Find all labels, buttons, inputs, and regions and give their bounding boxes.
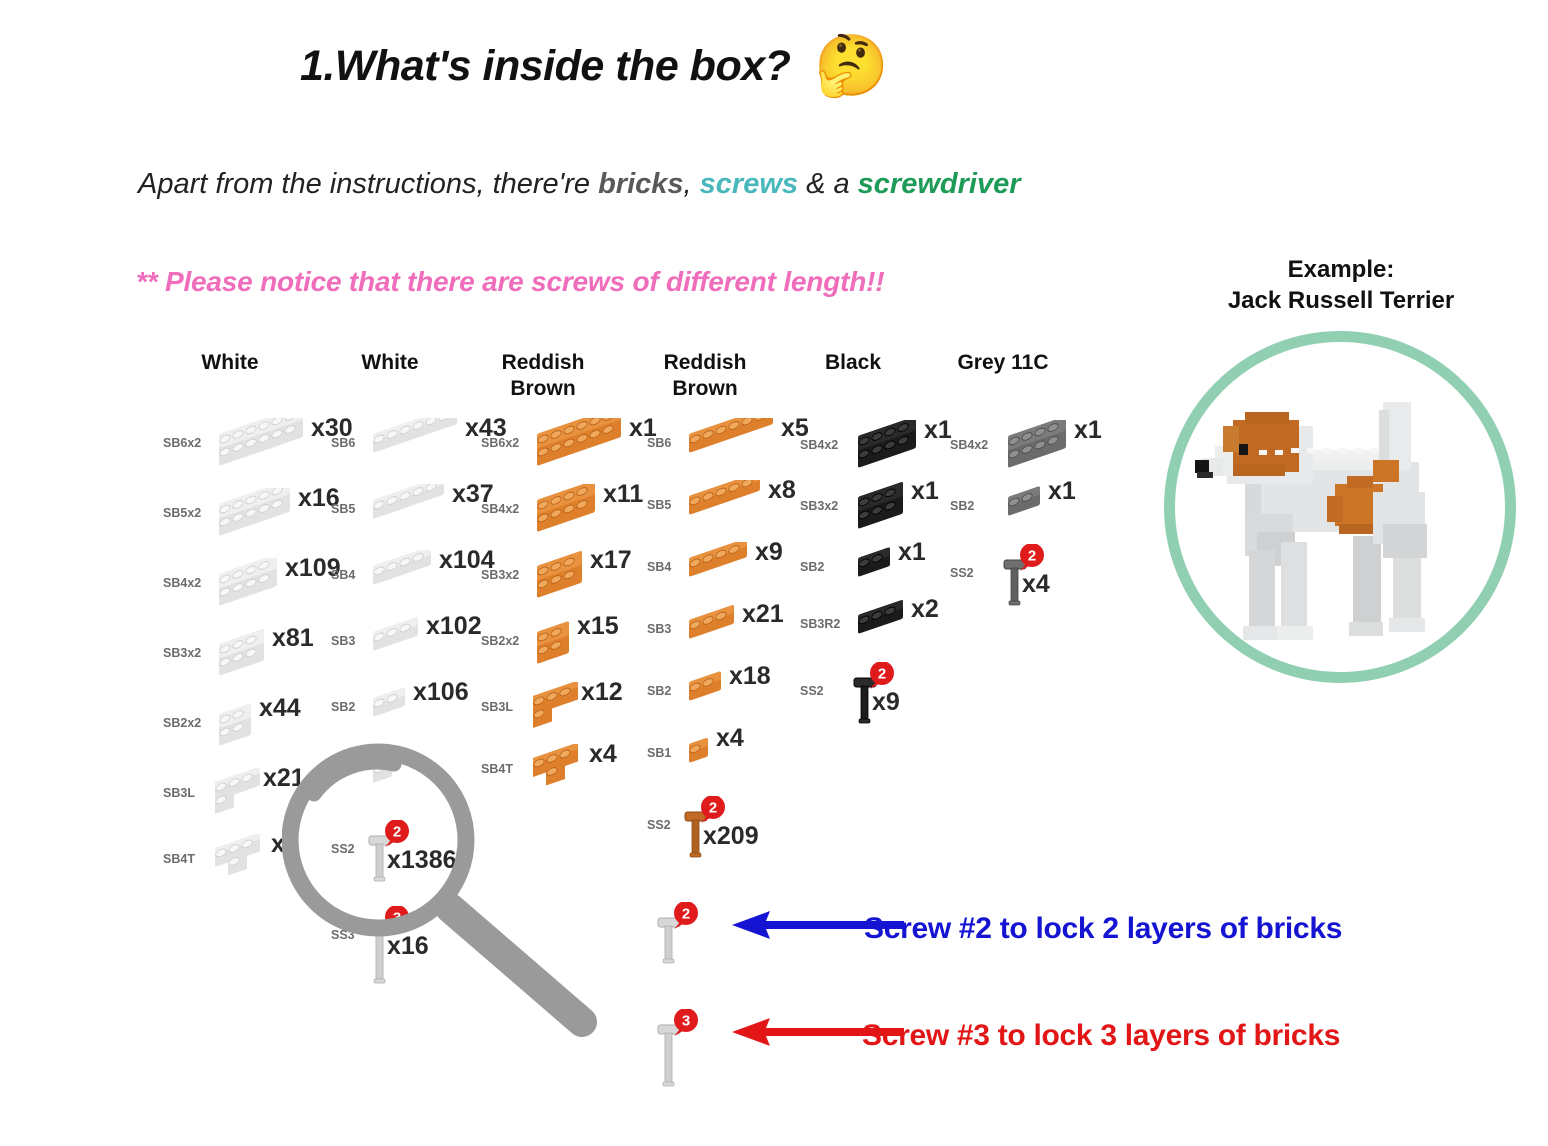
brick-icon bbox=[525, 616, 583, 679]
brick-icon bbox=[846, 599, 917, 649]
screw-length-notice: ** Please notice that there are screws o… bbox=[136, 266, 884, 298]
subtitle-prefix: Apart from the instructions, there're bbox=[138, 168, 598, 200]
screw-quantity: x209 bbox=[703, 822, 759, 851]
column-header-4: ReddishBrown bbox=[625, 350, 785, 403]
subtitle-comma: , bbox=[684, 168, 700, 200]
column-header-line1: Reddish bbox=[625, 350, 785, 376]
example-label-line2: Jack Russell Terrier bbox=[1176, 285, 1506, 316]
brick-icon bbox=[996, 420, 1080, 483]
legend-screw-icon: 2 bbox=[650, 902, 708, 977]
svg-text:2: 2 bbox=[682, 906, 690, 923]
column-header-line1: White bbox=[310, 350, 470, 376]
part-code: SB4T bbox=[163, 852, 195, 866]
part-code: SB4 bbox=[647, 560, 671, 574]
part-code: SB6 bbox=[331, 436, 355, 450]
subtitle-screws: screws bbox=[700, 168, 798, 200]
part-quantity: x1 bbox=[898, 538, 926, 567]
part-quantity: x1 bbox=[1074, 416, 1102, 445]
brick-icon bbox=[207, 488, 304, 551]
jack-russell-terrier-brick-model bbox=[1187, 364, 1493, 664]
part-code: SB4x2 bbox=[163, 576, 201, 590]
part-code: SB4T bbox=[481, 762, 513, 776]
part-quantity: x21 bbox=[263, 764, 305, 793]
column-header-1: White bbox=[150, 350, 310, 376]
part-quantity: x17 bbox=[590, 546, 632, 575]
part-quantity: x4 bbox=[589, 740, 617, 769]
part-code: SB2 bbox=[647, 684, 671, 698]
brick-icon bbox=[361, 484, 458, 534]
part-quantity: x12 bbox=[581, 678, 623, 707]
part-code: SB4 bbox=[331, 568, 355, 582]
brick-icon bbox=[207, 698, 265, 761]
column-header-2: White bbox=[310, 350, 470, 376]
svg-text:3: 3 bbox=[393, 910, 401, 927]
brick-icon bbox=[677, 666, 735, 716]
brick-icon bbox=[361, 418, 471, 468]
subtitle-bricks: bricks bbox=[598, 168, 683, 200]
legend-screw-icon: 3 bbox=[650, 1009, 708, 1100]
brick-icon bbox=[846, 481, 917, 544]
part-quantity: x44 bbox=[259, 694, 301, 723]
part-code: SB2 bbox=[331, 700, 355, 714]
screw-quantity: x4 bbox=[1022, 570, 1050, 599]
part-quantity: x1 bbox=[924, 416, 952, 445]
part-quantity: x21 bbox=[742, 600, 784, 629]
page-title: 1.What's inside the box? bbox=[300, 42, 790, 91]
brick-icon bbox=[361, 550, 445, 600]
brick-icon bbox=[207, 834, 277, 897]
subtitle-amp: & a bbox=[798, 168, 858, 200]
part-code: SB3x2 bbox=[481, 568, 519, 582]
part-code: SB3R2 bbox=[800, 617, 840, 631]
part-code: SB5x2 bbox=[163, 506, 201, 520]
part-code: SB4x2 bbox=[800, 438, 838, 452]
brick-icon bbox=[525, 418, 635, 481]
legend-label: Screw #2 to lock 2 layers of bricks bbox=[864, 912, 1342, 946]
brick-icon bbox=[361, 616, 432, 666]
part-quantity: x1 bbox=[911, 477, 939, 506]
part-code: SB2 bbox=[800, 560, 824, 574]
part-quantity: x9 bbox=[755, 538, 783, 567]
brick-icon bbox=[207, 628, 278, 691]
example-label: Example: Jack Russell Terrier bbox=[1176, 254, 1506, 316]
column-header-line2: Brown bbox=[625, 376, 785, 402]
part-code: SB2 bbox=[950, 499, 974, 513]
part-code: SB3L bbox=[163, 786, 195, 800]
part-quantity: x18 bbox=[729, 662, 771, 691]
brick-icon bbox=[846, 420, 930, 483]
brick-icon bbox=[525, 744, 595, 807]
part-quantity: x102 bbox=[426, 612, 482, 641]
part-quantity: x1 bbox=[1048, 477, 1076, 506]
subtitle: Apart from the instructions, there're br… bbox=[138, 168, 1021, 201]
brick-icon bbox=[846, 542, 904, 592]
brick-icon bbox=[677, 418, 787, 468]
part-code: SB3 bbox=[331, 634, 355, 648]
column-header-3: ReddishBrown bbox=[463, 350, 623, 403]
brick-icon bbox=[677, 604, 748, 654]
thinking-face-emoji: 🤔 bbox=[814, 36, 889, 96]
svg-text:2: 2 bbox=[709, 800, 717, 817]
example-label-line1: Example: bbox=[1176, 254, 1506, 285]
part-quantity: x4 bbox=[716, 724, 744, 753]
part-quantity: x2 bbox=[911, 595, 939, 624]
brick-icon bbox=[361, 748, 406, 798]
brick-icon bbox=[677, 480, 774, 530]
part-code: SB3L bbox=[481, 700, 513, 714]
brick-icon bbox=[996, 481, 1054, 531]
screw-code: SS3 bbox=[331, 928, 355, 942]
part-code: SB1 bbox=[647, 746, 671, 760]
instruction-page: 1.What's inside the box? 🤔 Apart from th… bbox=[0, 0, 1548, 1146]
svg-text:2: 2 bbox=[1028, 548, 1036, 565]
legend-label: Screw #3 to lock 3 layers of bricks bbox=[862, 1019, 1340, 1053]
part-code: SB6 bbox=[647, 436, 671, 450]
column-header-line1: Grey 11C bbox=[923, 350, 1083, 376]
example-dog-circle bbox=[1164, 331, 1516, 683]
screw-quantity: x1386 bbox=[387, 846, 457, 875]
part-quantity: x15 bbox=[577, 612, 619, 641]
subtitle-screwdriver: screwdriver bbox=[858, 168, 1021, 200]
screw-code: SS2 bbox=[800, 684, 824, 698]
column-header-line1: Reddish bbox=[463, 350, 623, 376]
brick-icon bbox=[207, 418, 317, 481]
brick-icon bbox=[525, 484, 609, 547]
screw-code: SS2 bbox=[331, 842, 355, 856]
page-title-row: 1.What's inside the box? 🤔 bbox=[300, 36, 889, 96]
part-code: SB4x2 bbox=[950, 438, 988, 452]
column-header-6: Grey 11C bbox=[923, 350, 1083, 376]
brick-icon bbox=[207, 768, 269, 831]
brick-icon bbox=[525, 682, 587, 745]
brick-icon bbox=[677, 542, 761, 592]
part-code: SB3 bbox=[647, 622, 671, 636]
part-code: SB6x2 bbox=[163, 436, 201, 450]
column-header-line1: White bbox=[150, 350, 310, 376]
screw-code: SS2 bbox=[950, 566, 974, 580]
screw-code: SS2 bbox=[647, 818, 671, 832]
part-code: SB2x2 bbox=[481, 634, 519, 648]
part-code: SB6x2 bbox=[481, 436, 519, 450]
part-code: SB3x2 bbox=[163, 646, 201, 660]
part-code: SB5 bbox=[647, 498, 671, 512]
part-code: SB3x2 bbox=[800, 499, 838, 513]
brick-icon bbox=[207, 558, 291, 621]
svg-text:3: 3 bbox=[682, 1013, 690, 1030]
part-code: SB2x2 bbox=[163, 716, 201, 730]
part-quantity: x11 bbox=[603, 480, 643, 509]
svg-text:2: 2 bbox=[878, 666, 886, 683]
screw-quantity: x16 bbox=[387, 932, 429, 961]
svg-text:2: 2 bbox=[393, 824, 401, 841]
brick-icon bbox=[361, 682, 419, 732]
screw-quantity: x9 bbox=[872, 688, 900, 717]
column-header-line1: Black bbox=[773, 350, 933, 376]
brick-icon bbox=[525, 550, 596, 613]
part-quantity: x106 bbox=[413, 678, 469, 707]
column-header-line2: Brown bbox=[463, 376, 623, 402]
part-quantity: x81 bbox=[272, 624, 314, 653]
part-quantity: x4 bbox=[271, 830, 299, 859]
part-quantity: x8 bbox=[768, 476, 796, 505]
part-code: SB5 bbox=[331, 502, 355, 516]
column-header-5: Black bbox=[773, 350, 933, 376]
part-code: SB4x2 bbox=[481, 502, 519, 516]
